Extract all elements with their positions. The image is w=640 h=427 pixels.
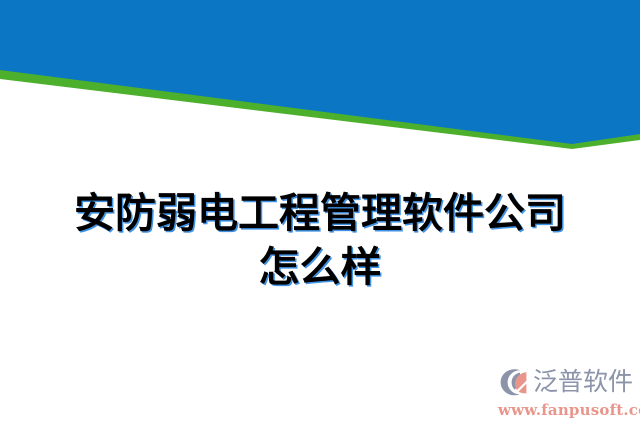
watermark: 泛普软件 www.fanpusoft.com	[498, 364, 634, 422]
banner-blue-body	[0, 0, 640, 144]
watermark-brand-row: 泛普软件	[498, 364, 634, 400]
fanpu-swirl-logo-icon	[498, 366, 530, 398]
decorative-top-banner	[0, 0, 640, 160]
slide-canvas: 安防弱电工程管理软件公司 怎么样 泛普软件 www.fanpusoft.com	[0, 0, 640, 427]
page-title: 安防弱电工程管理软件公司 怎么样	[0, 186, 640, 294]
page-title-line-2: 怎么样	[0, 240, 640, 294]
page-title-line-1: 安防弱电工程管理软件公司	[0, 186, 640, 240]
watermark-brand-name: 泛普软件	[533, 366, 633, 398]
watermark-url: www.fanpusoft.com	[498, 401, 634, 419]
